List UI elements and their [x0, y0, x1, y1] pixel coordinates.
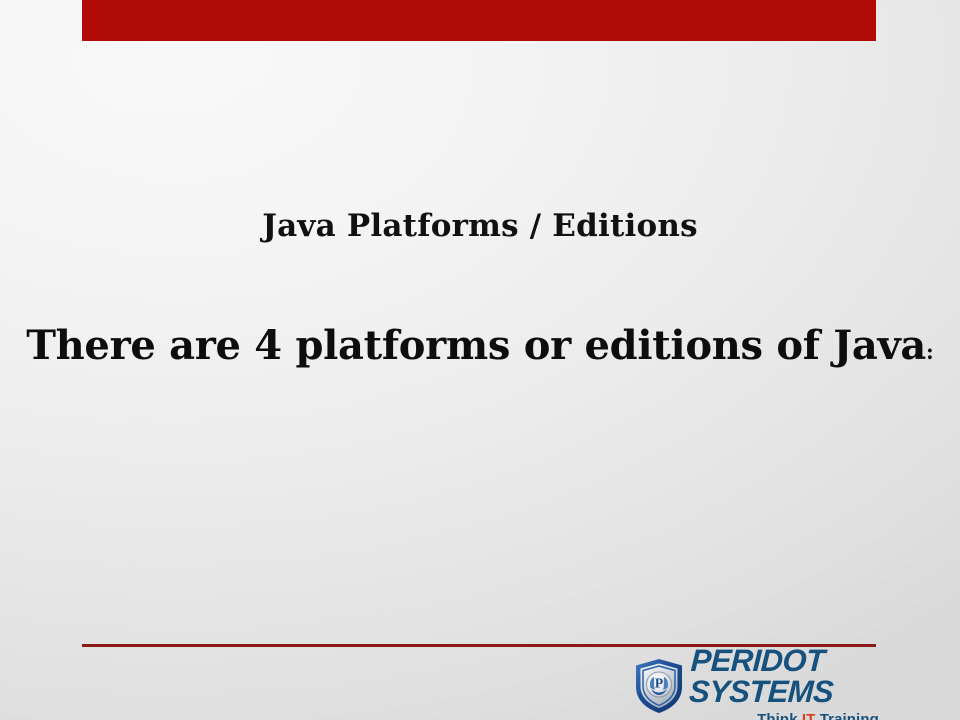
tagline-prefix: Think: [757, 711, 802, 720]
logo-tagline: Think IT Training: [745, 712, 879, 720]
shield-icon: P: [634, 658, 684, 714]
page-title: Java Platforms / Editions: [0, 208, 960, 244]
statement-line: There are 4 platforms or editions of Jav…: [0, 322, 960, 369]
statement-main-text: There are 4 platforms or editions of Jav…: [26, 322, 926, 369]
tagline-highlight: IT: [802, 711, 816, 720]
tagline-suffix: Training: [815, 711, 878, 720]
top-red-banner: [82, 0, 876, 41]
logo-text-block: PERIDOT SYSTEMS Think IT Training: [690, 645, 934, 720]
svg-text:P: P: [655, 676, 663, 691]
logo-wordmark: PERIDOT SYSTEMS: [688, 645, 935, 707]
slide-canvas: Java Platforms / Editions There are 4 pl…: [0, 0, 960, 720]
peridot-systems-logo: P PERIDOT SYSTEMS Think IT Training: [634, 657, 934, 715]
statement-colon: :: [926, 339, 934, 364]
